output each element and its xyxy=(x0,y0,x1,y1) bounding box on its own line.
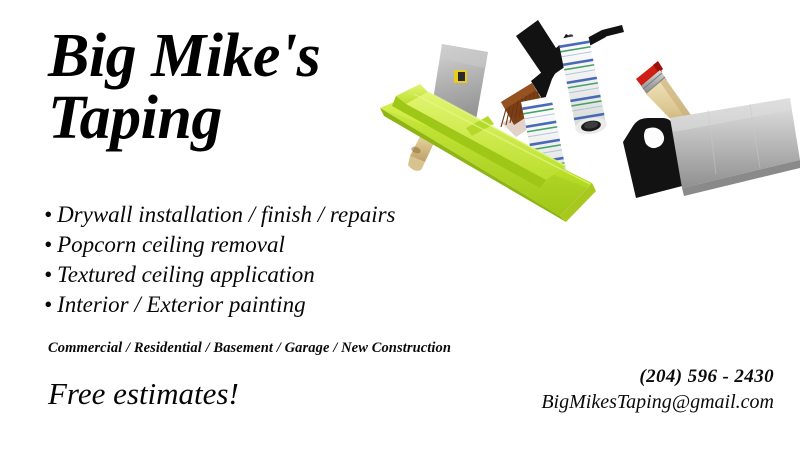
service-label: Popcorn ceiling removal xyxy=(57,232,285,257)
bullet-icon: • xyxy=(44,290,52,320)
service-label: Drywall installation / finish / repairs xyxy=(57,202,395,227)
business-card: Big Mike's Taping •Drywall installation … xyxy=(0,0,800,450)
free-estimates-text: Free estimates! xyxy=(48,376,239,412)
business-name-line-1: Big Mike's xyxy=(48,26,468,86)
services-list: •Drywall installation / finish / repairs… xyxy=(44,200,396,320)
taping-knife-icon xyxy=(623,98,800,198)
list-item: •Textured ceiling application xyxy=(44,260,396,290)
bullet-icon: • xyxy=(44,230,52,260)
list-item: •Drywall installation / finish / repairs xyxy=(44,200,396,230)
list-item: •Popcorn ceiling removal xyxy=(44,230,396,260)
service-areas-tagline: Commercial / Residential / Basement / Ga… xyxy=(48,340,451,357)
paint-roller-cover-upper-icon xyxy=(552,34,610,137)
contact-block: (204) 596 - 2430 BigMikesTaping@gmail.co… xyxy=(541,366,774,414)
phone-number[interactable]: (204) 596 - 2430 xyxy=(541,366,774,388)
list-item: •Interior / Exterior painting xyxy=(44,290,396,320)
bullet-icon: • xyxy=(44,200,52,230)
service-label: Textured ceiling application xyxy=(57,262,315,287)
business-name: Big Mike's Taping xyxy=(48,26,468,148)
email-address[interactable]: BigMikesTaping@gmail.com xyxy=(541,391,774,414)
bullet-icon: • xyxy=(44,260,52,290)
service-label: Interior / Exterior painting xyxy=(57,292,306,317)
business-name-line-2: Taping xyxy=(48,88,468,148)
